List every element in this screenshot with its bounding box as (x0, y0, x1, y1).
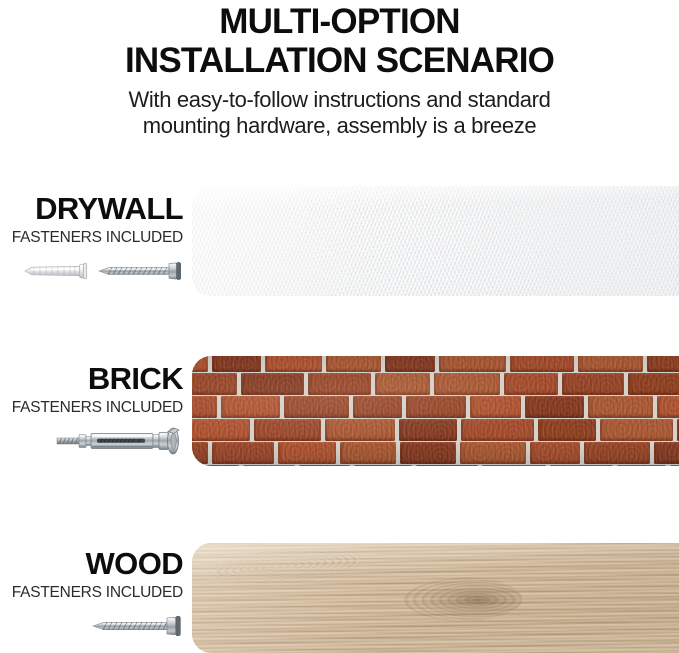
header: MULTI-OPTION INSTALLATION SCENARIO With … (0, 0, 679, 139)
wood-texture-panel (192, 543, 679, 653)
brick-label-column: BRICK FASTENERS INCLUDED (0, 362, 183, 458)
drywall-texture-panel (192, 186, 679, 296)
brick-texture-panel (192, 356, 679, 466)
sleeve-anchor-bolt-icon (55, 426, 183, 456)
drywall-sheen (192, 186, 679, 296)
wood-label-column: WOOD FASTENERS INCLUDED (0, 547, 183, 643)
material-name-wood: WOOD (0, 547, 183, 581)
fasteners-included-wood: FASTENERS INCLUDED (0, 583, 183, 602)
wood-sheen (192, 543, 679, 653)
fasteners-included-drywall: FASTENERS INCLUDED (0, 228, 183, 247)
page-title-line-1: MULTI-OPTION (0, 2, 679, 41)
fasteners-included-brick: FASTENERS INCLUDED (0, 398, 183, 417)
material-name-brick: BRICK (0, 362, 183, 396)
screw-icon (97, 260, 183, 282)
page-subtitle: With easy-to-follow instructions and sta… (0, 87, 679, 139)
page-subtitle-line-1: With easy-to-follow instructions and sta… (0, 87, 679, 113)
material-name-drywall: DRYWALL (0, 192, 183, 226)
wood-hardware-row (0, 609, 183, 643)
page-title-line-2: INSTALLATION SCENARIO (0, 41, 679, 80)
drywall-label-column: DRYWALL FASTENERS INCLUDED (0, 192, 183, 288)
wall-anchor-icon (22, 260, 90, 282)
wood-screw-icon (91, 614, 183, 638)
brick-hardware-row (0, 424, 183, 458)
drywall-hardware-row (0, 254, 183, 288)
brick-shading (192, 356, 679, 466)
page-subtitle-line-2: mounting hardware, assembly is a breeze (0, 113, 679, 139)
